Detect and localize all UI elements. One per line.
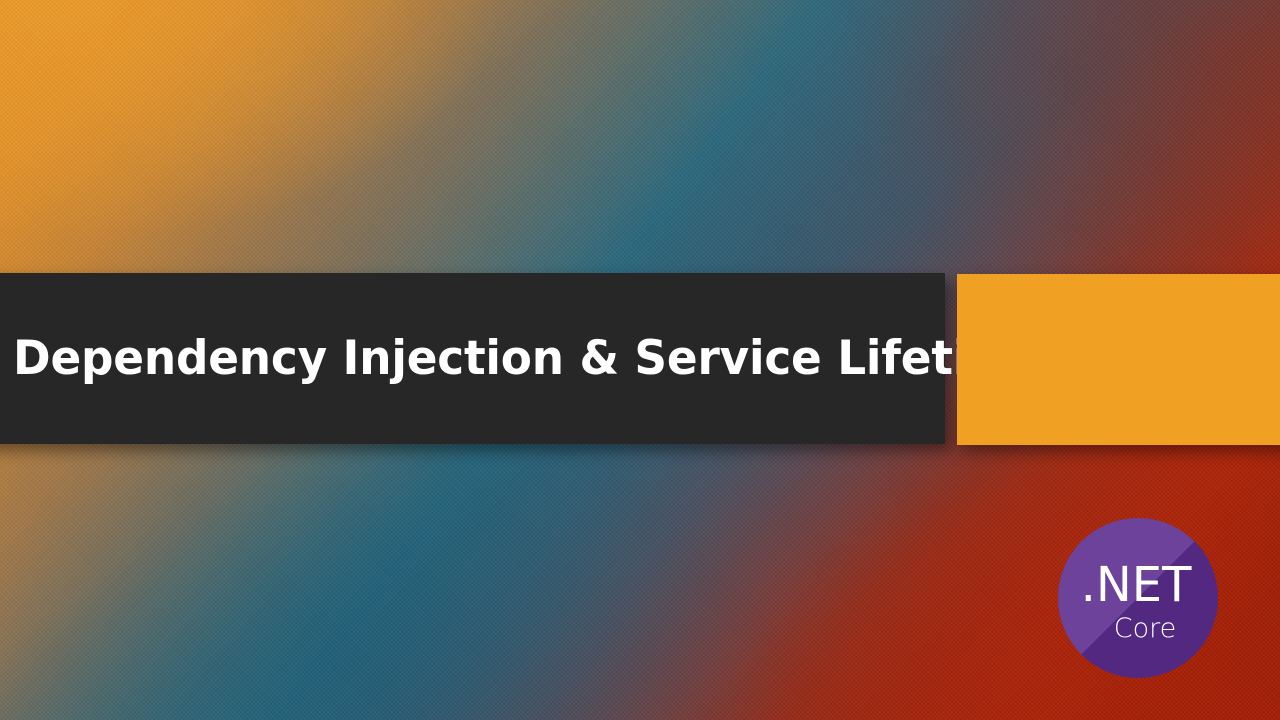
orange-accent-block [957,274,1280,445]
dotnet-core-logo: .NET Core [1058,518,1218,678]
slide-canvas: Dependency Injection & Service Lifetime … [0,0,1280,720]
dotnet-logo-secondary-text: Core [1114,615,1177,642]
title-band: Dependency Injection & Service Lifetime [0,273,945,444]
page-title: Dependency Injection & Service Lifetime [13,335,1046,382]
dotnet-logo-primary-text: .NET [1081,561,1192,609]
